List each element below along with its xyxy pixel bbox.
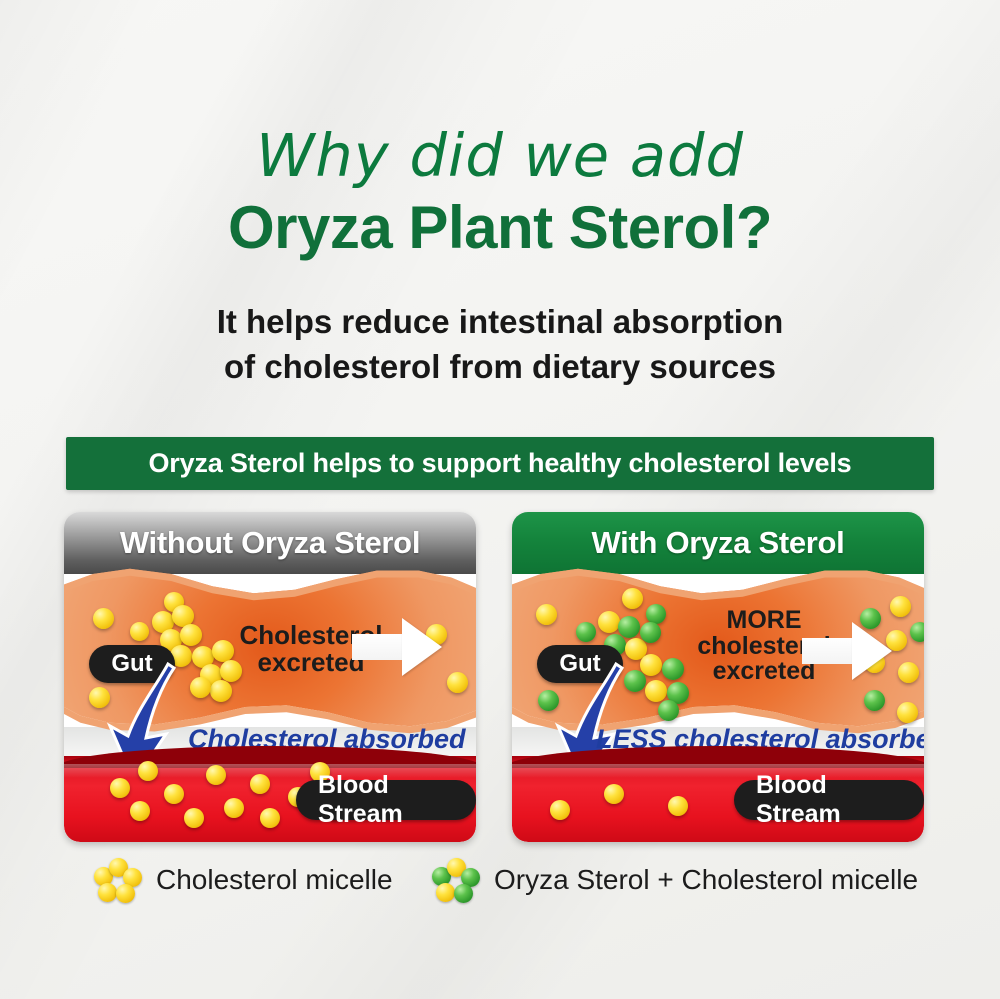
micelle-particle bbox=[598, 611, 620, 633]
blood-label-text: Blood Stream bbox=[318, 771, 454, 829]
page-title: Why did we add Oryza Plant Sterol? bbox=[0, 122, 1000, 264]
panel-header-label: Without Oryza Sterol bbox=[120, 525, 420, 561]
sterol-particle bbox=[454, 884, 473, 903]
blood-particle bbox=[250, 774, 270, 794]
panel-header-label: With Oryza Sterol bbox=[592, 525, 845, 561]
blood-particle bbox=[604, 784, 624, 804]
micelle-particle bbox=[898, 662, 919, 683]
legend-item-oryza-sterol-cholesterol-micelle: Oryza Sterol + Cholesterol micelle bbox=[430, 856, 918, 904]
micelle-particle bbox=[447, 672, 468, 693]
infographic-page: Why did we add Oryza Plant Sterol? It he… bbox=[0, 0, 1000, 999]
legend-item-cholesterol-micelle: Cholesterol micelle bbox=[92, 856, 393, 904]
blood-stream-label-right: Blood Stream bbox=[734, 780, 924, 820]
panel-without-oryza-sterol: Without Oryza Sterol Gut Cholesterol bbox=[64, 512, 476, 842]
subtitle-line-1: It helps reduce intestinal absorption bbox=[0, 299, 1000, 344]
sterol-particle bbox=[646, 604, 666, 624]
legend-label: Oryza Sterol + Cholesterol micelle bbox=[494, 864, 918, 896]
sterol-particle bbox=[910, 622, 924, 642]
micelle-particle bbox=[210, 680, 232, 702]
micelle-particle bbox=[93, 608, 114, 629]
sterol-particle bbox=[864, 690, 885, 711]
sterol-particle bbox=[662, 658, 684, 680]
panel-with-oryza-sterol: With Oryza Sterol bbox=[512, 512, 924, 842]
green-banner: Oryza Sterol helps to support healthy ch… bbox=[66, 437, 934, 490]
blood-particle bbox=[138, 761, 158, 781]
subtitle-line-2: of cholesterol from dietary sources bbox=[0, 344, 1000, 389]
arrow-shaft bbox=[802, 638, 858, 664]
micelle-particle bbox=[890, 596, 911, 617]
blood-particle bbox=[260, 808, 280, 828]
micelle-particle bbox=[536, 604, 557, 625]
blood-label-text: Blood Stream bbox=[756, 771, 902, 829]
arrow-shaft bbox=[352, 634, 408, 660]
panel-header-with: With Oryza Sterol bbox=[512, 512, 924, 574]
excretion-arrow-right bbox=[802, 622, 894, 680]
micelle-particle bbox=[622, 588, 643, 609]
micelle-particle bbox=[116, 884, 135, 903]
arrow-head bbox=[402, 618, 442, 676]
blood-particle bbox=[550, 800, 570, 820]
micelle-particle bbox=[190, 677, 211, 698]
arrow-head bbox=[852, 622, 892, 680]
micelle-particle bbox=[645, 680, 667, 702]
blood-particle bbox=[164, 784, 184, 804]
blood-particle bbox=[224, 798, 244, 818]
title-bold-line: Oryza Plant Sterol? bbox=[0, 192, 1000, 264]
legend-label: Cholesterol micelle bbox=[156, 864, 393, 896]
title-script-line: Why did we add bbox=[0, 122, 1000, 190]
micelle-particle bbox=[130, 622, 149, 641]
micelle-particle bbox=[897, 702, 918, 723]
blood-particle bbox=[668, 796, 688, 816]
legend: Cholesterol micelle Oryza Sterol + Chole… bbox=[0, 852, 1000, 912]
banner-text: Oryza Sterol helps to support healthy ch… bbox=[149, 448, 852, 479]
blood-stream-label-left: Blood Stream bbox=[296, 780, 476, 820]
sterol-particle bbox=[618, 616, 640, 638]
panel-header-without: Without Oryza Sterol bbox=[64, 512, 476, 574]
excretion-arrow-left bbox=[352, 618, 444, 676]
micelle-particle bbox=[212, 640, 234, 662]
micelle-particle bbox=[640, 654, 662, 676]
micelle-particle bbox=[98, 883, 117, 902]
blood-particle bbox=[130, 801, 150, 821]
sterol-particle bbox=[658, 700, 679, 721]
sterol-particle bbox=[640, 622, 661, 643]
blood-particle bbox=[110, 778, 130, 798]
micelle-particle bbox=[436, 883, 455, 902]
blood-particle bbox=[184, 808, 204, 828]
blood-particle bbox=[206, 765, 226, 785]
sterol-particle bbox=[576, 622, 596, 642]
yellow-cluster-icon bbox=[92, 856, 144, 904]
yellow-green-cluster-icon bbox=[430, 856, 482, 904]
subtitle: It helps reduce intestinal absorption of… bbox=[0, 299, 1000, 389]
micelle-particle bbox=[180, 624, 202, 646]
